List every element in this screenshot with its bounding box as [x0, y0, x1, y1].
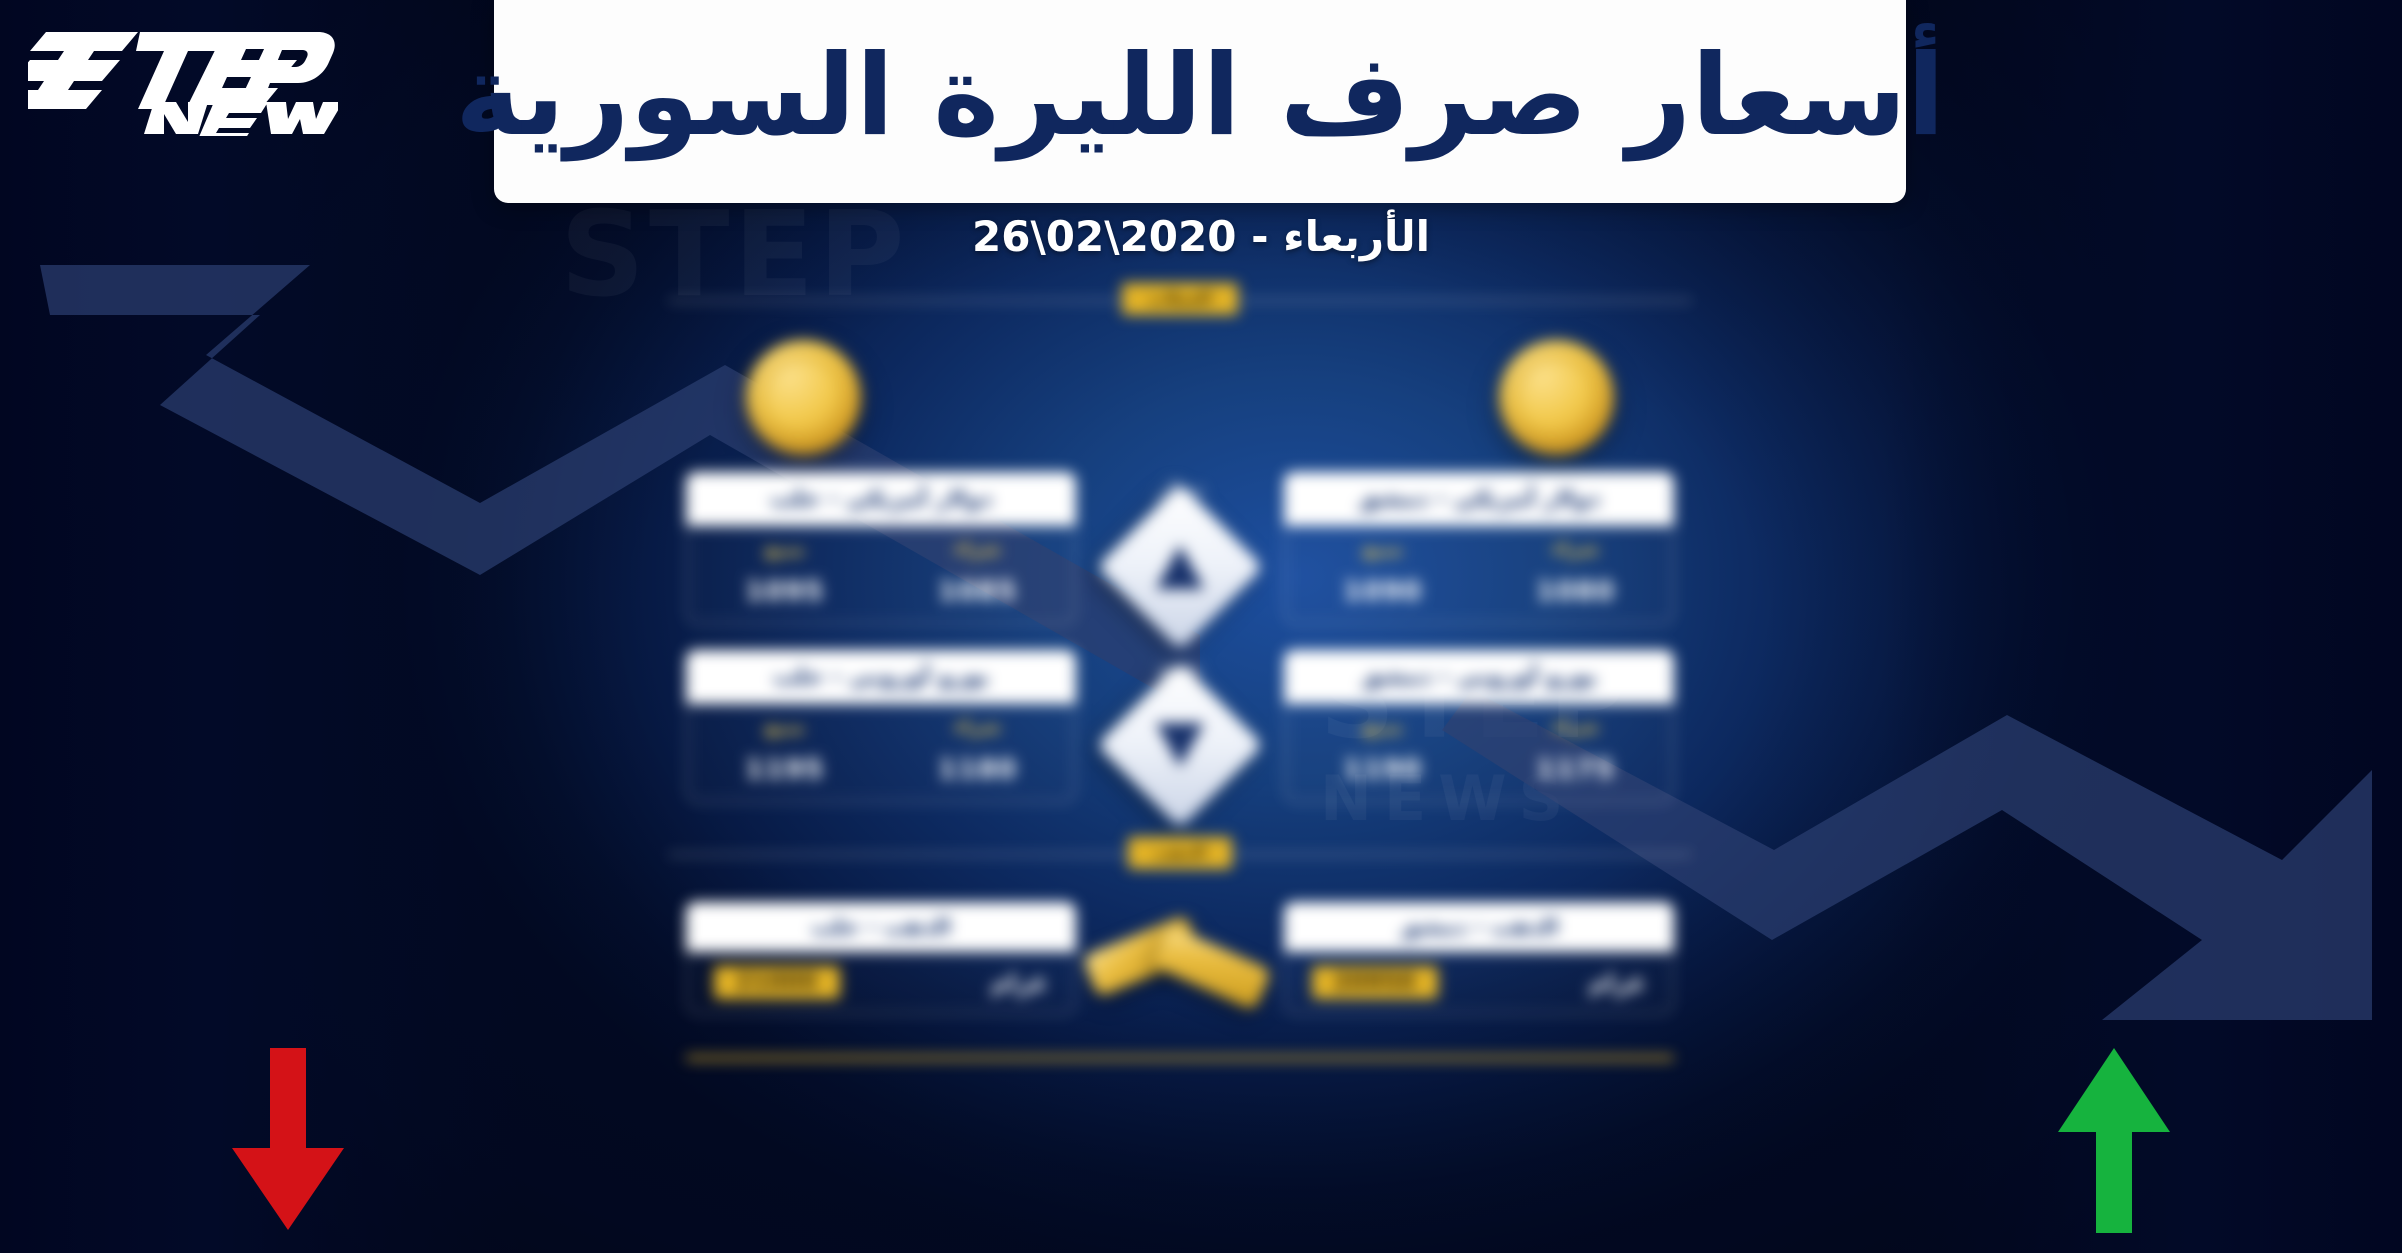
rate-box-right: دولار أمريكي - دمشق شراء 1080 مبيع 1090	[1284, 472, 1674, 625]
gold-line: غرام 20950	[1286, 952, 1672, 999]
buy-label: شراء	[954, 716, 1001, 744]
sell-label: مبيع	[764, 716, 804, 744]
buy-label: شراء	[1552, 716, 1599, 744]
rate-columns: شراء 1085 مبيع 1095	[688, 526, 1074, 607]
sell-value: 1090	[1294, 576, 1472, 607]
rate-columns: شراء 1175 مبيع 1190	[1286, 704, 1672, 785]
sell-value: 1195	[696, 754, 874, 785]
buy-value: 1175	[1487, 754, 1665, 785]
gold-coin-icon	[746, 340, 861, 455]
section-header-currencies: العملات	[660, 276, 1700, 322]
gold-title: الذهب - دمشق	[1284, 902, 1674, 952]
gold-middle-badge	[1080, 902, 1280, 1038]
rate-columns: شراء 1080 مبيع 1090	[1286, 526, 1672, 607]
sell-label: مبيع	[1362, 538, 1402, 566]
rate-col-buy: شراء 1085	[889, 538, 1067, 607]
rate-title: يورو أوروبي - حلب	[686, 650, 1076, 704]
rate-box-left: يورو أوروبي - حلب شراء 1180 مبيع 1195	[686, 650, 1076, 803]
sell-label: مبيع	[1362, 716, 1402, 744]
table-row: يورو أوروبي - حلب شراء 1180 مبيع 1195 يو…	[660, 650, 1700, 804]
rate-col-sell: مبيع 1195	[696, 716, 874, 785]
gold-box-right: الذهب - دمشق غرام 20950	[1284, 902, 1674, 1015]
sell-value: 1095	[696, 576, 874, 607]
gold-value: 20950	[1312, 966, 1438, 999]
row-middle-badge: يورو	[1080, 650, 1280, 804]
date-text: الأربعاء - 2020\02\26	[972, 212, 1430, 261]
rate-box-right: يورو أوروبي - دمشق شراء 1175 مبيع 1190	[1284, 650, 1674, 803]
gold-unit-label: غرام	[1589, 969, 1646, 997]
gold-bars-icon	[1080, 906, 1280, 1038]
rate-col-sell: مبيع 1095	[696, 538, 874, 607]
green-up-arrow-icon	[2054, 1048, 2174, 1237]
gold-box-left: الذهب - حلب غرام 21000	[686, 902, 1076, 1015]
gold-value: 21000	[714, 966, 840, 999]
buy-value: 1085	[889, 576, 1067, 607]
rate-col-buy: شراء 1080	[1487, 538, 1665, 607]
section-chip-currencies: العملات	[1122, 283, 1237, 315]
trend-up-diamond-icon	[1097, 484, 1264, 651]
infographic-canvas: STEP STEP NEWS أسعار صرف الليرة السورية …	[0, 0, 2402, 1253]
gold-title: الذهب - حلب	[686, 902, 1076, 952]
exchange-rate-card: العملات دولار أمريكي - حلب شراء 1085 مبي…	[660, 276, 1700, 1253]
rate-col-sell: مبيع 1190	[1294, 716, 1472, 785]
step-news-logo	[28, 18, 338, 136]
coins-row	[660, 322, 1700, 472]
gold-line: غرام 21000	[688, 952, 1074, 999]
row-middle-badge: دولار	[1080, 472, 1280, 626]
gold-unit-label: غرام	[991, 969, 1048, 997]
gold-row: الذهب - حلب غرام 21000 الذهب - دمشق غرام…	[660, 902, 1700, 1038]
buy-value: 1180	[889, 754, 1067, 785]
section-header-gold: الذهب	[660, 830, 1700, 876]
rate-col-buy: شراء 1175	[1487, 716, 1665, 785]
section-chip-gold: الذهب	[1128, 837, 1232, 869]
table-row: دولار أمريكي - حلب شراء 1085 مبيع 1095 د…	[660, 472, 1700, 626]
title-banner: أسعار صرف الليرة السورية	[494, 0, 1906, 203]
buy-value: 1080	[1487, 576, 1665, 607]
date-line: الأربعاء - 2020\02\26	[0, 212, 2402, 261]
sell-label: مبيع	[764, 538, 804, 566]
sell-value: 1190	[1294, 754, 1472, 785]
gold-coin-icon	[1499, 340, 1614, 455]
red-down-arrow-icon	[228, 1048, 348, 1237]
buy-label: شراء	[954, 538, 1001, 566]
rate-title: دولار أمريكي - دمشق	[1284, 472, 1674, 526]
page-title: أسعار صرف الليرة السورية	[455, 40, 1945, 164]
rate-title: يورو أوروبي - دمشق	[1284, 650, 1674, 704]
rate-col-buy: شراء 1180	[889, 716, 1067, 785]
trend-down-diamond-icon	[1097, 662, 1264, 829]
buy-label: شراء	[1552, 538, 1599, 566]
rate-col-sell: مبيع 1090	[1294, 538, 1472, 607]
rate-box-left: دولار أمريكي - حلب شراء 1085 مبيع 1095	[686, 472, 1076, 625]
rate-title: دولار أمريكي - حلب	[686, 472, 1076, 526]
card-bottom-rule	[686, 1056, 1674, 1060]
rate-columns: شراء 1180 مبيع 1195	[688, 704, 1074, 785]
